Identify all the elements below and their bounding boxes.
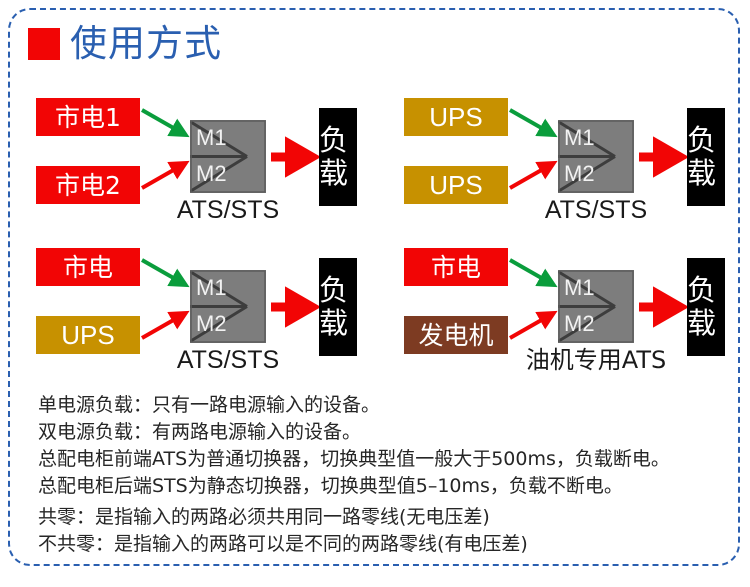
switch-label-m1: M1 — [564, 127, 595, 149]
note-line: 单电源负载：只有一路电源输入的设备。 — [38, 392, 728, 419]
switch-caption: ATS/STS — [177, 196, 279, 224]
diagram-mains-ups: 市电 UPS — [24, 238, 374, 388]
note-line: 不共零：是指输入的两路可以是不同的两路零线(有电压差) — [38, 531, 728, 558]
note-line: 总配电柜前端ATS为普通切换器，切换典型值一般大于500ms，负载断电。 — [38, 446, 728, 473]
switch-unit: M1 M2 ATS/STS — [558, 120, 634, 193]
switch-box: M1 M2 — [558, 270, 634, 343]
switch-box: M1 M2 — [190, 270, 266, 343]
switch-caption: ATS/STS — [177, 346, 279, 374]
switch-label-m2: M2 — [564, 313, 595, 335]
diagram-mains-mains: 市电1 市电2 — [24, 88, 374, 238]
note-line: 双电源负载：有两路电源输入的设备。 — [38, 419, 728, 446]
switch-box: M1 M2 — [558, 120, 634, 193]
diagram-ups-ups: UPS UPS — [392, 88, 742, 238]
switch-caption: 油机专用ATS — [526, 346, 666, 374]
switch-label-m1: M1 — [196, 127, 227, 149]
switch-unit: M1 M2 ATS/STS — [190, 270, 266, 343]
load-box: 负载 — [319, 108, 357, 206]
page-header: 使用方式 — [28, 24, 222, 64]
switch-label-m2: M2 — [196, 313, 227, 335]
switch-box: M1 M2 — [190, 120, 266, 193]
load-box: 负载 — [687, 258, 725, 356]
note-line: 总配电柜后端STS为静态切换器，切换典型值5–10ms，负载不断电。 — [38, 473, 728, 500]
usage-diagram-page: 使用方式 市电1 市电2 — [0, 0, 750, 587]
switch-label-m2: M2 — [196, 163, 227, 185]
diagram-mains-generator: 市电 发电机 — [392, 238, 742, 388]
notes-block: 单电源负载：只有一路电源输入的设备。 双电源负载：有两路电源输入的设备。 总配电… — [38, 392, 728, 558]
header-bullet-square — [28, 28, 60, 60]
page-title: 使用方式 — [70, 24, 222, 64]
load-box: 负载 — [687, 108, 725, 206]
load-box: 负载 — [319, 258, 357, 356]
note-line: 共零：是指输入的两路必须共用同一路零线(无电压差) — [38, 504, 728, 531]
switch-caption: ATS/STS — [545, 196, 647, 224]
switch-unit: M1 M2 油机专用ATS — [558, 270, 634, 343]
switch-unit: M1 M2 ATS/STS — [190, 120, 266, 193]
switch-label-m1: M1 — [564, 277, 595, 299]
switch-label-m1: M1 — [196, 277, 227, 299]
switch-label-m2: M2 — [564, 163, 595, 185]
